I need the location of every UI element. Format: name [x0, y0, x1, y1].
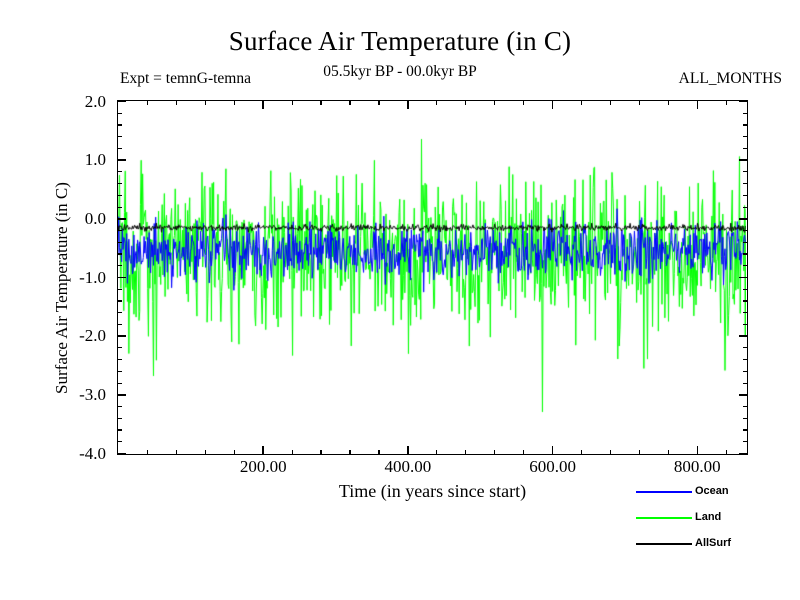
y-tick-label: -4.0: [38, 445, 106, 463]
x-tick-minor: [292, 450, 293, 455]
y-tick-minor: [117, 124, 122, 125]
x-tick-major: [697, 446, 699, 455]
x-tick-minor: [320, 450, 321, 455]
y-tick-major: [117, 101, 126, 103]
y-tick-minor-right: [743, 359, 748, 360]
x-tick-minor: [726, 450, 727, 455]
y-tick-minor-right: [743, 429, 748, 430]
x-tick-label: 800.00: [637, 458, 757, 476]
y-tick-minor: [117, 265, 122, 266]
y-tick-minor-right: [743, 265, 748, 266]
y-tick-minor: [117, 324, 122, 325]
y-tick-label: -2.0: [38, 327, 106, 345]
y-tick-major-right: [739, 218, 748, 220]
y-tick-minor-right: [743, 171, 748, 172]
legend-swatch-line: [636, 543, 692, 545]
y-tick-minor: [117, 148, 122, 149]
x-tick-major: [262, 446, 264, 455]
y-tick-minor: [117, 441, 122, 442]
y-tick-minor-right: [743, 242, 748, 243]
subtitle-months: ALL_MONTHS: [0, 70, 782, 88]
x-tick-minor-top: [610, 100, 611, 105]
x-tick-minor-top: [494, 100, 495, 105]
legend-swatch-line: [636, 491, 692, 493]
legend-item-ocean[interactable]: Ocean: [636, 483, 786, 509]
legend-swatch-line: [636, 517, 692, 519]
y-tick-minor: [117, 136, 122, 137]
y-tick-minor-right: [743, 207, 748, 208]
y-tick-minor: [117, 418, 122, 419]
y-tick-minor: [117, 242, 122, 243]
y-tick-minor: [117, 312, 122, 313]
x-tick-minor: [639, 450, 640, 455]
y-tick-major-right: [739, 159, 748, 161]
y-tick-major: [117, 159, 126, 161]
x-tick-major: [552, 446, 554, 455]
y-tick-minor-right: [743, 183, 748, 184]
y-tick-major-right: [739, 335, 748, 337]
x-tick-minor: [610, 450, 611, 455]
x-tick-minor-top: [176, 100, 177, 105]
x-tick-minor-top: [581, 100, 582, 105]
y-tick-minor: [117, 406, 122, 407]
x-tick-minor-top: [378, 100, 379, 105]
x-tick-minor-top: [726, 100, 727, 105]
x-tick-minor: [147, 450, 148, 455]
y-tick-major-right: [739, 101, 748, 103]
y-tick-major-right: [739, 277, 748, 279]
y-tick-major: [117, 218, 126, 220]
y-tick-minor: [117, 383, 122, 384]
x-tick-minor: [465, 450, 466, 455]
legend-label: Land: [695, 509, 721, 526]
y-tick-minor: [117, 195, 122, 196]
series-canvas: [118, 101, 746, 453]
x-tick-minor: [668, 450, 669, 455]
y-tick-minor: [117, 359, 122, 360]
y-tick-major: [117, 394, 126, 396]
y-tick-label: 2.0: [38, 93, 106, 111]
y-tick-minor-right: [743, 324, 748, 325]
x-tick-minor: [494, 450, 495, 455]
x-tick-minor: [436, 450, 437, 455]
y-tick-minor-right: [743, 347, 748, 348]
y-tick-minor-right: [743, 312, 748, 313]
y-tick-major: [117, 277, 126, 279]
x-tick-minor-top: [436, 100, 437, 105]
x-tick-minor-top: [205, 100, 206, 105]
y-tick-minor: [117, 300, 122, 301]
x-tick-major-top: [262, 100, 264, 109]
y-tick-label: -3.0: [38, 386, 106, 404]
y-tick-minor: [117, 183, 122, 184]
y-tick-minor: [117, 171, 122, 172]
y-tick-label: 1.0: [38, 151, 106, 169]
x-tick-minor: [349, 450, 350, 455]
x-tick-minor-top: [147, 100, 148, 105]
x-tick-minor-top: [234, 100, 235, 105]
y-tick-major: [117, 335, 126, 337]
y-tick-minor: [117, 253, 122, 254]
y-tick-minor: [117, 429, 122, 430]
y-tick-minor-right: [743, 113, 748, 114]
y-tick-minor-right: [743, 383, 748, 384]
plot-area: [117, 100, 748, 455]
x-tick-minor-top: [639, 100, 640, 105]
legend-label: Ocean: [695, 483, 729, 500]
legend-label: AllSurf: [695, 535, 731, 552]
y-tick-minor: [117, 289, 122, 290]
legend-item-land[interactable]: Land: [636, 509, 786, 535]
x-tick-minor: [205, 450, 206, 455]
x-tick-major-top: [552, 100, 554, 109]
x-tick-minor: [176, 450, 177, 455]
y-tick-minor: [117, 347, 122, 348]
x-tick-minor: [378, 450, 379, 455]
y-tick-minor-right: [743, 371, 748, 372]
chart-figure: Surface Air Temperature (in C) Expt = te…: [0, 0, 800, 600]
y-tick-minor-right: [743, 195, 748, 196]
y-tick-minor-right: [743, 136, 748, 137]
legend-item-allsurf[interactable]: AllSurf: [636, 535, 786, 561]
y-tick-minor: [117, 371, 122, 372]
x-tick-major-top: [697, 100, 699, 109]
x-tick-label: 400.00: [348, 458, 468, 476]
x-tick-label: 200.00: [203, 458, 323, 476]
x-tick-major: [407, 446, 409, 455]
y-tick-major: [117, 453, 126, 455]
x-tick-minor: [234, 450, 235, 455]
y-tick-label: 0.0: [38, 210, 106, 228]
y-tick-minor: [117, 230, 122, 231]
x-tick-minor-top: [523, 100, 524, 105]
y-tick-minor-right: [743, 253, 748, 254]
x-tick-major-top: [407, 100, 409, 109]
y-tick-minor-right: [743, 124, 748, 125]
y-tick-label: -1.0: [38, 269, 106, 287]
legend: OceanLandAllSurf: [636, 483, 786, 561]
x-tick-label: 600.00: [493, 458, 613, 476]
y-tick-minor: [117, 113, 122, 114]
y-tick-minor-right: [743, 300, 748, 301]
x-tick-minor: [523, 450, 524, 455]
x-tick-minor-top: [349, 100, 350, 105]
y-tick-major-right: [739, 394, 748, 396]
x-tick-minor-top: [292, 100, 293, 105]
page-title: Surface Air Temperature (in C): [0, 26, 800, 56]
y-tick-minor-right: [743, 406, 748, 407]
y-tick-minor-right: [743, 230, 748, 231]
y-tick-minor-right: [743, 289, 748, 290]
x-tick-minor-top: [668, 100, 669, 105]
y-tick-minor-right: [743, 148, 748, 149]
x-tick-minor-top: [320, 100, 321, 105]
y-tick-minor-right: [743, 418, 748, 419]
y-tick-minor: [117, 207, 122, 208]
y-tick-major-right: [739, 453, 748, 455]
x-tick-minor: [581, 450, 582, 455]
y-tick-minor-right: [743, 441, 748, 442]
x-tick-minor-top: [465, 100, 466, 105]
